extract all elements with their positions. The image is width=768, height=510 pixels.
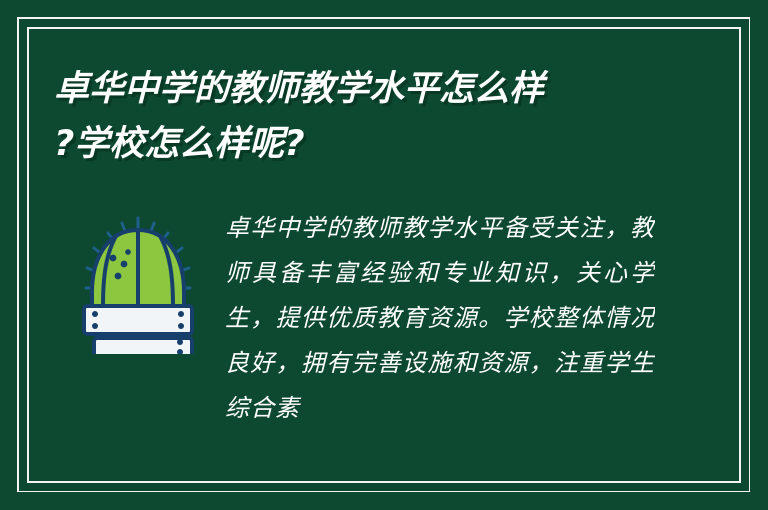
cactus-in-pot-illustration bbox=[72, 214, 204, 354]
frame-mask-bottom bbox=[0, 492, 768, 510]
frame-mask-right bbox=[750, 0, 768, 510]
cactus-in-pot-icon bbox=[72, 214, 204, 354]
page-title-line-2: ?学校怎么样呢? bbox=[54, 117, 704, 172]
page-title: 卓华中学的教师教学水平怎么样 ?学校怎么样呢? bbox=[54, 62, 704, 172]
content-area: 卓华中学的教师教学水平备受关注，教师具备丰富经验和专业知识，关心学生，提供优质教… bbox=[54, 200, 714, 470]
pot-rim bbox=[84, 306, 192, 334]
page-title-line-1: 卓华中学的教师教学水平怎么样 bbox=[54, 62, 704, 117]
poster-canvas: 卓华中学的教师教学水平怎么样 ?学校怎么样呢? bbox=[0, 0, 768, 510]
body-paragraph: 卓华中学的教师教学水平备受关注，教师具备丰富经验和专业知识，关心学生，提供优质教… bbox=[225, 206, 655, 431]
